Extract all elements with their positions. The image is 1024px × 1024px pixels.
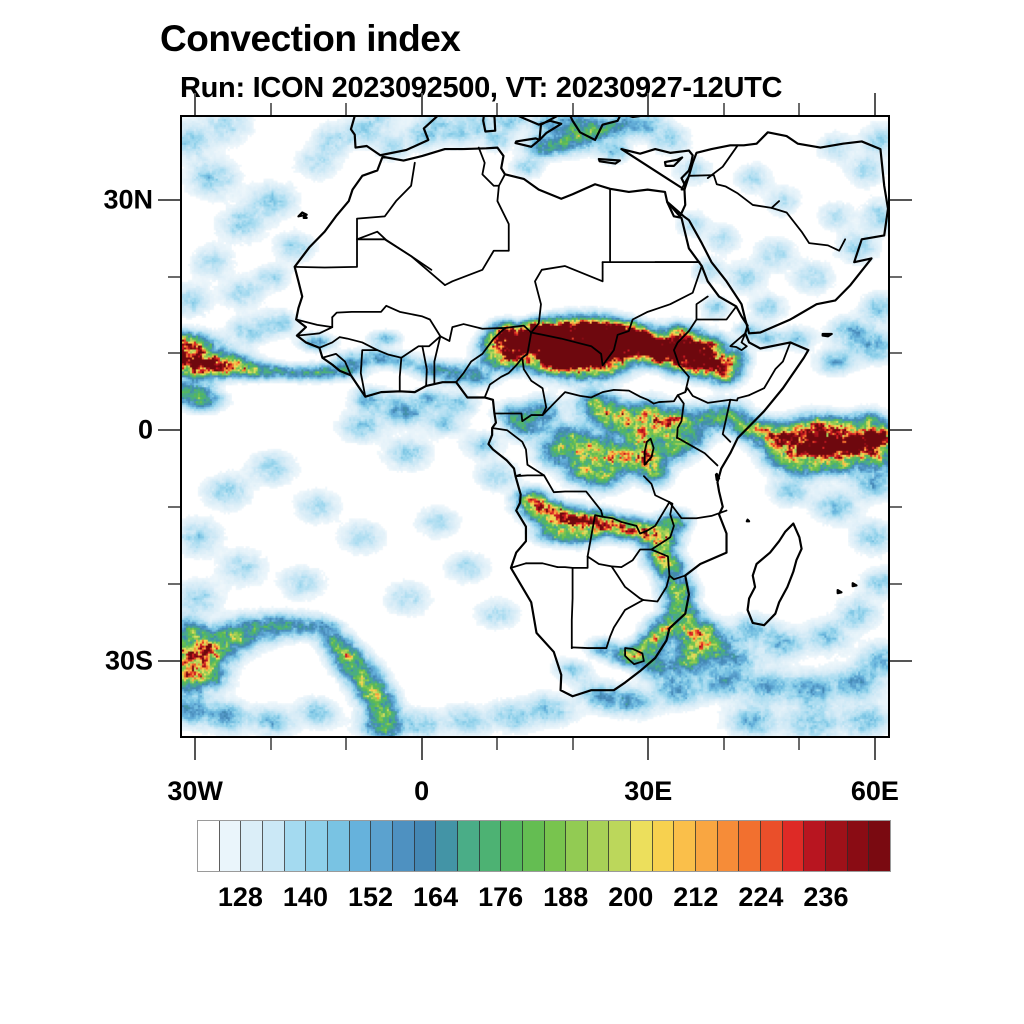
colorbar-cell — [350, 821, 372, 871]
colorbar-cell — [696, 821, 718, 871]
axis-tick-minor — [168, 506, 180, 508]
axis-tick-major — [890, 429, 912, 431]
axis-tick-major — [158, 199, 180, 201]
x-axis-label: 0 — [414, 776, 429, 807]
y-axis-label: 30N — [53, 184, 153, 215]
axis-tick-minor — [496, 103, 498, 115]
y-axis-label: 30S — [53, 646, 153, 677]
colorbar-cell — [371, 821, 393, 871]
colorbar-cell — [241, 821, 263, 871]
colorbar-cell — [869, 821, 890, 871]
axis-tick-minor — [798, 103, 800, 115]
x-axis-label: 30E — [624, 776, 672, 807]
axis-tick-minor — [168, 352, 180, 354]
axis-tick-minor — [270, 738, 272, 750]
axis-tick-minor — [572, 103, 574, 115]
axis-tick-major — [647, 738, 649, 760]
axis-tick-major — [890, 199, 912, 201]
y-axis-label: 0 — [53, 415, 153, 446]
coastline-border-overlay — [182, 117, 888, 736]
colorbar-cell — [436, 821, 458, 871]
axis-tick-major — [421, 93, 423, 115]
colorbar-cell — [523, 821, 545, 871]
colorbar-tick-label: 152 — [348, 882, 393, 913]
axis-tick-minor — [798, 738, 800, 750]
axis-tick-minor — [168, 276, 180, 278]
run-valid-time-subtitle: Run: ICON 2023092500, VT: 20230927-12UTC — [180, 72, 782, 105]
colorbar-cell — [393, 821, 415, 871]
axis-tick-major — [194, 93, 196, 115]
axis-tick-major — [194, 738, 196, 760]
axis-tick-minor — [345, 103, 347, 115]
colorbar-cell — [653, 821, 675, 871]
colorbar-cell — [285, 821, 307, 871]
axis-tick-minor — [168, 583, 180, 585]
axis-tick-major — [890, 660, 912, 662]
colorbar-cell — [826, 821, 848, 871]
colorbar-tick-label: 212 — [673, 882, 718, 913]
colorbar-cell — [761, 821, 783, 871]
colorbar-tick-label: 140 — [283, 882, 328, 913]
axis-tick-minor — [890, 583, 902, 585]
page-title: Convection index — [160, 18, 460, 60]
axis-tick-major — [158, 429, 180, 431]
axis-tick-minor — [723, 738, 725, 750]
colorbar-cell — [263, 821, 285, 871]
axis-tick-major — [158, 660, 180, 662]
colorbar-cell — [415, 821, 437, 871]
colorbar-tick-label: 164 — [413, 882, 458, 913]
axis-tick-minor — [572, 738, 574, 750]
colorbar-cell — [718, 821, 740, 871]
colorbar-cell — [328, 821, 350, 871]
colorbar-cell — [545, 821, 567, 871]
x-axis-label: 30W — [167, 776, 223, 807]
axis-tick-minor — [890, 352, 902, 354]
axis-tick-minor — [496, 738, 498, 750]
map-plot-area — [180, 115, 890, 738]
axis-tick-minor — [890, 506, 902, 508]
colorbar-cell — [631, 821, 653, 871]
x-axis-label: 60E — [851, 776, 899, 807]
axis-tick-minor — [890, 276, 902, 278]
colorbar-tick-label: 224 — [738, 882, 783, 913]
colorbar-cell — [783, 821, 805, 871]
convection-index-figure: Convection index Run: ICON 2023092500, V… — [0, 0, 1024, 1024]
colorbar-cell — [306, 821, 328, 871]
colorbar-tick-label: 176 — [478, 882, 523, 913]
axis-tick-major — [647, 93, 649, 115]
colorbar-cell — [198, 821, 220, 871]
colorbar-tick-label: 188 — [543, 882, 588, 913]
colorbar — [197, 820, 891, 872]
axis-tick-minor — [345, 738, 347, 750]
axis-tick-minor — [723, 103, 725, 115]
axis-tick-minor — [270, 103, 272, 115]
colorbar-tick-label: 236 — [803, 882, 848, 913]
colorbar-tick-label: 200 — [608, 882, 653, 913]
colorbar-cell — [848, 821, 870, 871]
colorbar-tick-label: 128 — [218, 882, 263, 913]
colorbar-cell — [739, 821, 761, 871]
colorbar-cell — [566, 821, 588, 871]
colorbar-cell — [674, 821, 696, 871]
colorbar-cell — [804, 821, 826, 871]
axis-tick-major — [874, 738, 876, 760]
colorbar-cell — [480, 821, 502, 871]
colorbar-cell — [501, 821, 523, 871]
colorbar-cell — [458, 821, 480, 871]
colorbar-cell — [220, 821, 242, 871]
colorbar-cell — [609, 821, 631, 871]
colorbar-cell — [588, 821, 610, 871]
axis-tick-major — [421, 738, 423, 760]
axis-tick-major — [874, 93, 876, 115]
